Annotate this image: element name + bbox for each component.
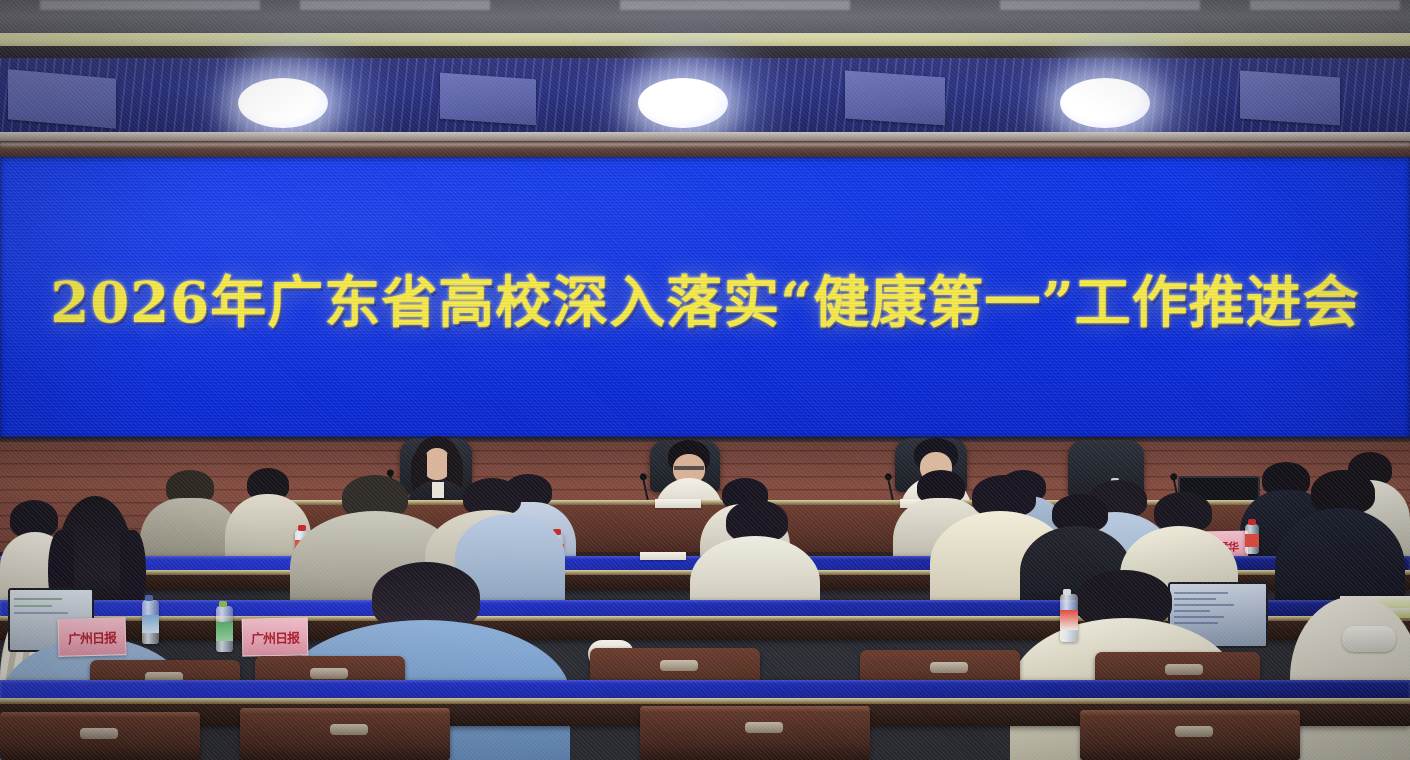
audience-desk-row-3-trim — [0, 698, 1410, 704]
ceiling-light-cove — [0, 33, 1410, 47]
ceiling-lamp-left — [238, 78, 328, 128]
chair-rail-4 — [1080, 710, 1300, 717]
water-bottle-left-1 — [142, 600, 159, 644]
led-backdrop-screen: 2026年广东省高校深入落实“健康第一”工作推进会 — [0, 157, 1410, 439]
chair-badge-6 — [80, 728, 118, 739]
placard-guangzhou-daily-right: 广州日报 — [242, 617, 309, 656]
chair-row4-3[interactable] — [640, 706, 870, 760]
water-bottle-r1-c — [1245, 524, 1259, 554]
ceiling-vent-2 — [440, 73, 536, 126]
glasses-icon — [674, 466, 704, 470]
ceiling-upper-slab — [0, 0, 1410, 36]
placard-guangzhou-daily-left: 广州日报 — [58, 617, 127, 657]
chair-rail-3 — [640, 706, 870, 713]
placard-left-text: 广州日报 — [68, 627, 116, 647]
chair-badge-7 — [330, 724, 368, 735]
led-screen-title: 2026年广东省高校深入落实“健康第一”工作推进会 — [0, 275, 1410, 331]
ceiling-vent-3 — [845, 71, 945, 126]
chair-rail-1 — [0, 712, 200, 719]
document-r1-a — [640, 552, 686, 560]
chair-badge-5 — [1165, 664, 1203, 675]
ceiling-lamp-center — [638, 78, 728, 128]
chair-badge-2 — [310, 668, 348, 679]
chair-rail-2 — [240, 708, 450, 715]
chair-badge-8 — [745, 722, 783, 733]
chair-badge-9 — [1175, 726, 1213, 737]
ceiling-lamp-right — [1060, 78, 1150, 128]
conference-hall-photo: 2026年广东省高校深入落实“健康第一”工作推进会 — [0, 0, 1410, 760]
ceiling-vent-1 — [8, 69, 116, 128]
ceiling-vent-4 — [1240, 71, 1340, 126]
water-bottle-r2-a — [1060, 594, 1078, 642]
attendee-c5-right — [1290, 596, 1410, 760]
water-bottle-left-2 — [216, 606, 233, 652]
chair-badge-3 — [660, 660, 698, 671]
face-mask — [1342, 626, 1396, 652]
chair-badge-4 — [930, 662, 968, 673]
placard-right-text: 广州日报 — [251, 627, 299, 647]
